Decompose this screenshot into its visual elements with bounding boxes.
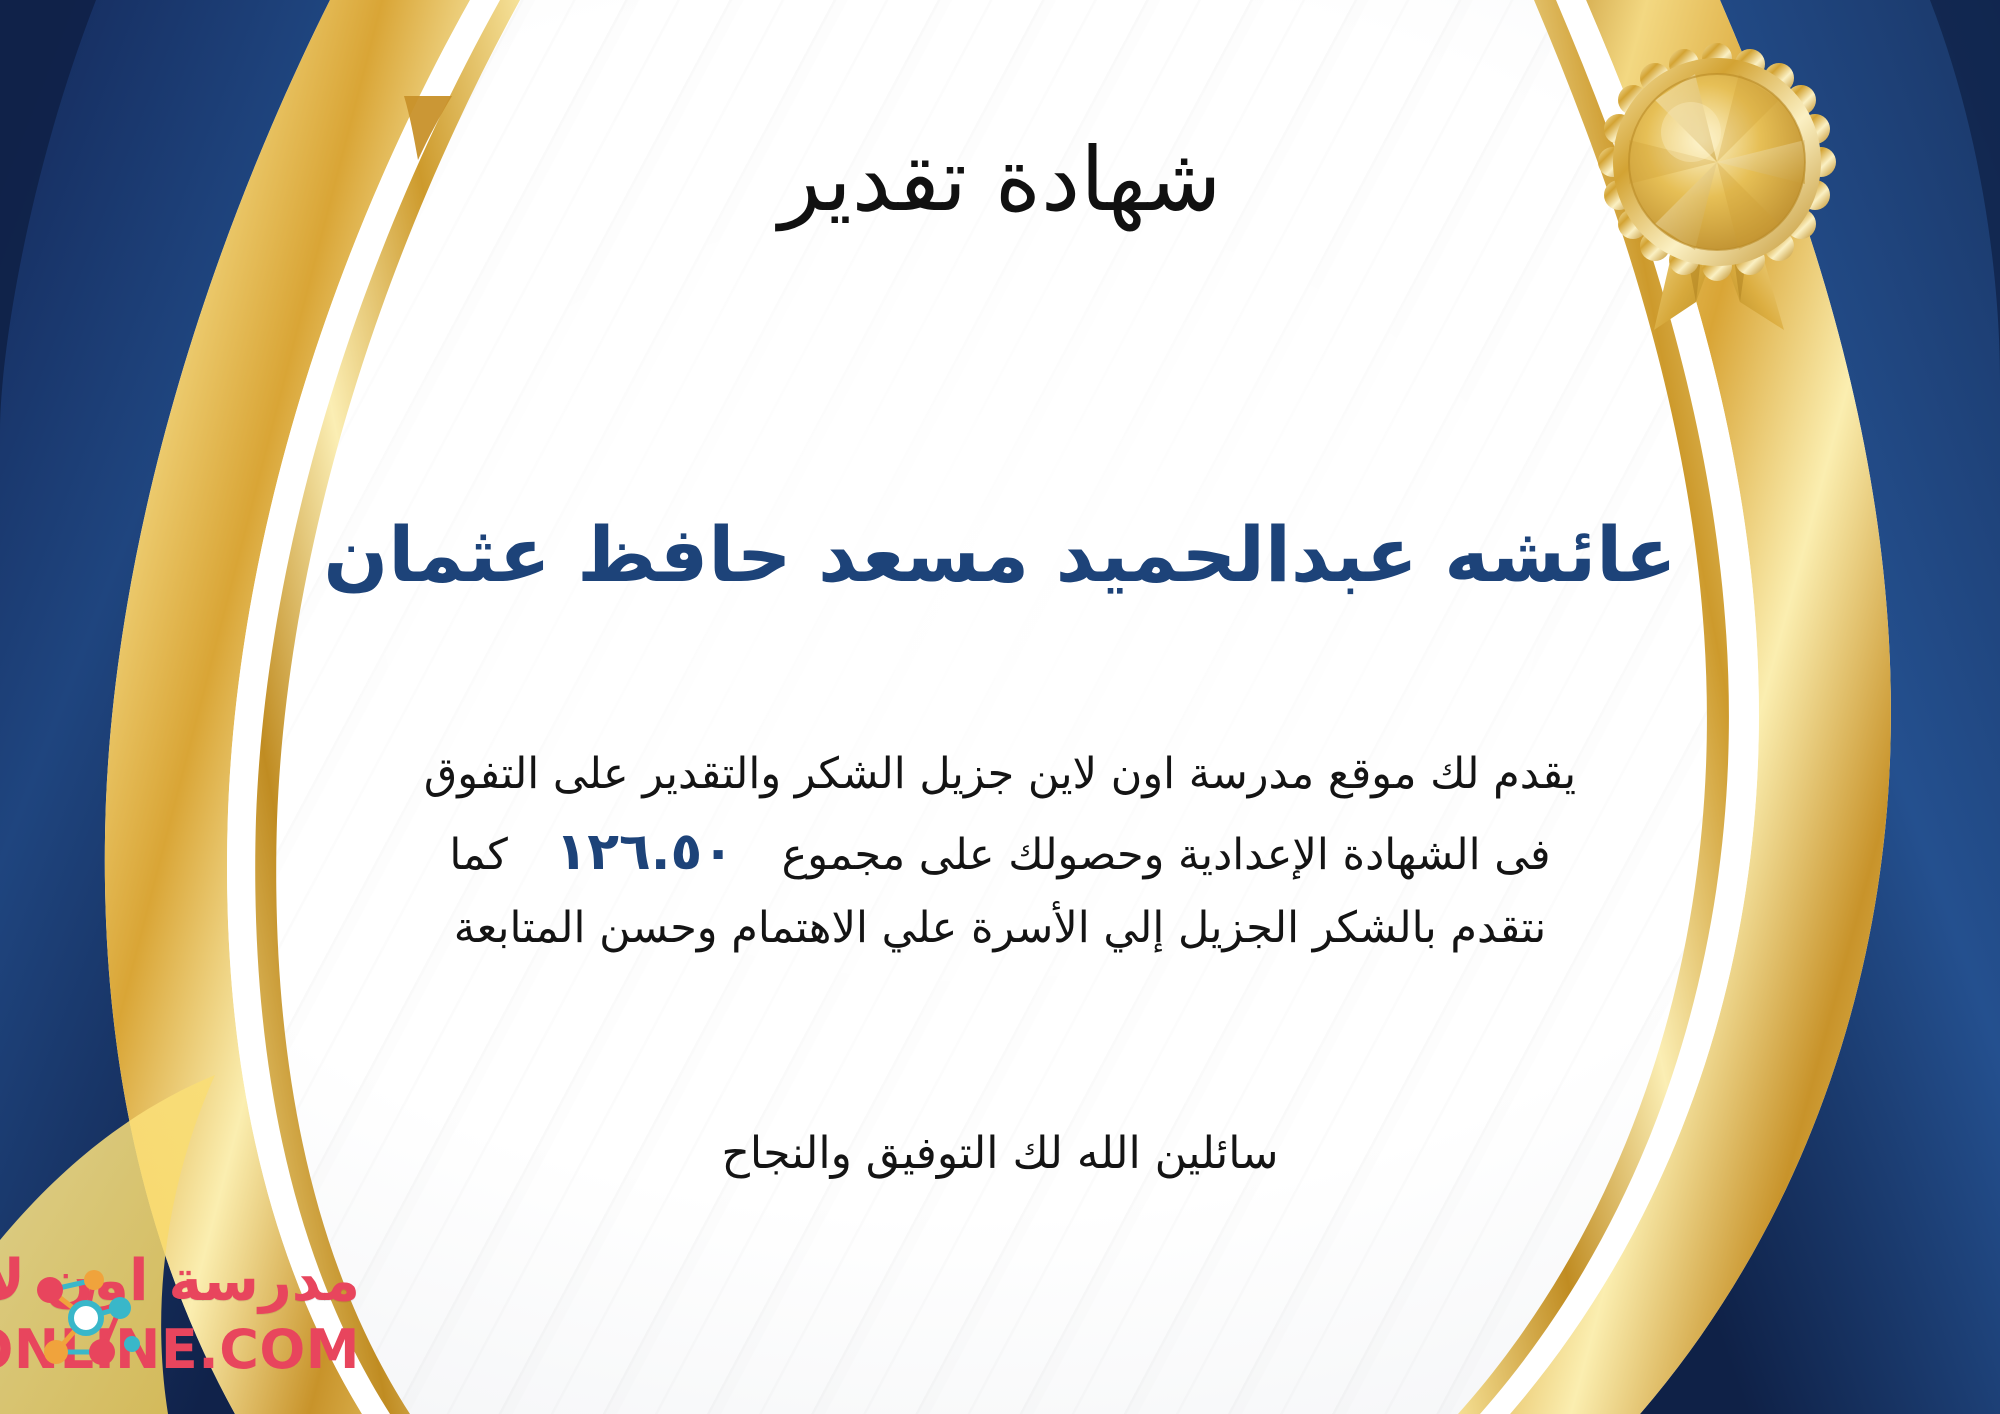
- closing-line: سائلين الله لك التوفيق والنجاح: [0, 1128, 2000, 1179]
- site-logo[interactable]: مدرسة اون لاين MADRSA-ONLINE.COM: [20, 1248, 490, 1398]
- certificate-canvas: شهادة تقدير عائشه عبدالحميد مسعد حافظ عث…: [0, 0, 2000, 1414]
- body-line-2: فى الشهادة الإعدادية وحصولك على مجموع ١٢…: [200, 810, 1800, 894]
- body-line-2-suffix: كما: [449, 830, 507, 880]
- grade-value: ١٢٦.٥٠: [521, 810, 767, 894]
- body-line-2-prefix: فى الشهادة الإعدادية وحصولك على مجموع: [782, 830, 1551, 880]
- certificate-body: يقدم لك موقع مدرسة اون لاين جزيل الشكر و…: [200, 740, 1800, 964]
- certificate-title: شهادة تقدير: [0, 128, 2000, 231]
- body-line-1: يقدم لك موقع مدرسة اون لاين جزيل الشكر و…: [200, 740, 1800, 810]
- network-nodes-icon: [20, 1256, 146, 1374]
- recipient-name: عائشه عبدالحميد مسعد حافظ عثمان: [0, 510, 2000, 599]
- body-line-3: نتقدم بالشكر الجزيل إلي الأسرة علي الاهت…: [200, 894, 1800, 964]
